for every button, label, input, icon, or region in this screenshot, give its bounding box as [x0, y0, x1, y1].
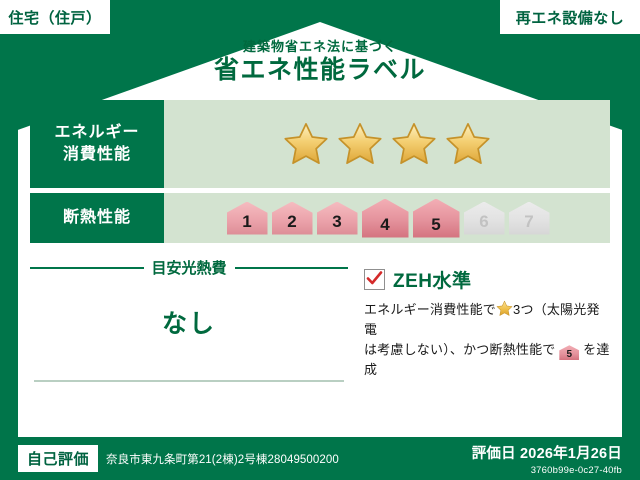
zeh-block: ZEH水準 エネルギー消費性能で3つ（太陽光発電 は考慮しない）、かつ断熱性能で… [348, 252, 610, 382]
insulation-performance-row: 断熱性能 1234567 [30, 193, 610, 243]
energy-performance-label-cell: エネルギー 消費性能 [30, 100, 164, 188]
insulation-performance-label-cell: 断熱性能 [30, 193, 164, 243]
insulation-label: 断熱性能 [63, 207, 131, 229]
energy-label-line2: 消費性能 [63, 144, 131, 166]
energy-label-line1: エネルギー [54, 122, 139, 144]
zeh-checkbox[interactable] [364, 269, 385, 290]
estimated-cost-value: なし [30, 304, 348, 340]
insulation-grade-2: 2 [272, 202, 313, 235]
zeh-heading: ZEH水準 [364, 266, 610, 293]
energy-performance-label: 住宅（住戸） 再エネ設備なし 建築物省エネ法に基づく 省エネ性能ラベル エネルギ… [0, 0, 640, 480]
star-icon-inline [496, 300, 513, 317]
star-icon-filled [283, 121, 329, 167]
star-icon-filled [337, 121, 383, 167]
renewable-energy-tag-label: 再エネ設備なし [516, 7, 625, 28]
insulation-grade-1: 1 [227, 202, 268, 235]
section-divider [34, 380, 344, 382]
self-evaluation-badge: 自己評価 [18, 445, 98, 472]
cost-rule-right [235, 267, 349, 269]
insulation-grade-5: 5 [413, 199, 460, 238]
insulation-grade-7: 7 [509, 202, 550, 235]
zeh-description: エネルギー消費性能で3つ（太陽光発電 は考慮しない）、かつ断熱性能で 5 を達成 [364, 300, 610, 381]
estimated-cost-heading: 目安光熱費 [30, 257, 348, 278]
insulation-grade-3: 3 [317, 202, 358, 235]
zeh-desc-part3: は考慮しない）、かつ断熱性能で [364, 342, 556, 357]
zeh-title: ZEH水準 [393, 266, 472, 293]
star-icon-filled [391, 121, 437, 167]
zeh-desc-grade-badge: 5 [559, 345, 579, 360]
energy-star-rating [164, 100, 610, 188]
renewable-energy-tag: 再エネ設備なし [500, 0, 640, 34]
footer-left-group: 自己評価 奈良市東九条町第21(2棟)2号棟28049500200 [0, 445, 472, 472]
cost-rule-left [30, 267, 144, 269]
property-address: 奈良市東九条町第21(2棟)2号棟28049500200 [106, 451, 339, 467]
footer-right-group: 評価日 2026年1月26日 3760b99e-0c27-40fb [472, 442, 640, 476]
star-icon-filled [445, 121, 491, 167]
insulation-grade-scale: 1234567 [164, 193, 610, 243]
building-type-tag: 住宅（住戸） [0, 0, 110, 34]
insulation-grade-4: 4 [362, 199, 409, 238]
building-type-tag-label: 住宅（住戸） [8, 7, 101, 28]
label-lower-section: 目安光熱費 なし ZEH水準 エネルギー消費性能で3つ（太陽光発電 [30, 252, 610, 382]
insulation-grade-6: 6 [464, 202, 505, 235]
label-footer: 自己評価 奈良市東九条町第21(2棟)2号棟28049500200 評価日 20… [0, 437, 640, 480]
label-content-card: エネルギー 消費性能 断熱性能 1234567 目安光熱費 なし [30, 100, 610, 435]
estimated-cost-heading-label: 目安光熱費 [152, 257, 227, 278]
estimated-cost-block: 目安光熱費 なし [30, 252, 348, 382]
evaluation-date: 評価日 2026年1月26日 [472, 442, 622, 463]
zeh-desc-part1: エネルギー消費性能で [364, 302, 496, 317]
document-id: 3760b99e-0c27-40fb [472, 465, 622, 476]
energy-performance-row: エネルギー 消費性能 [30, 100, 610, 188]
